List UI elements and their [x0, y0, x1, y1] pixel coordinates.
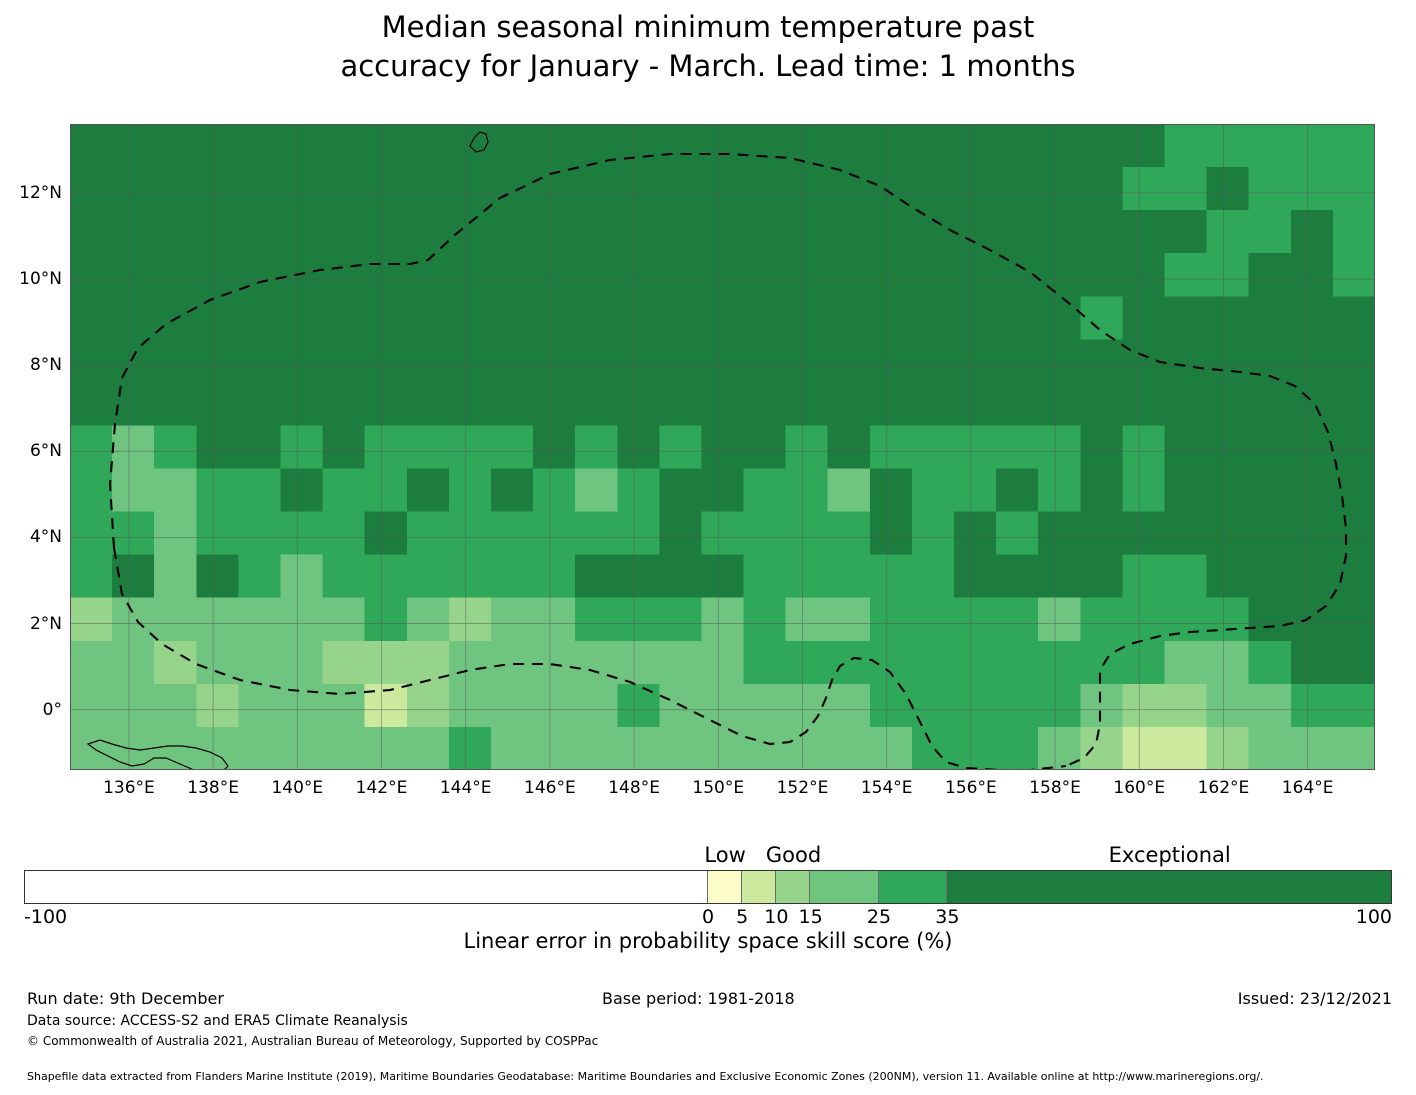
colorbar-segment	[25, 871, 708, 903]
x-axis-tick-label: 142°E	[356, 778, 408, 798]
colorbar-category-label: Good	[766, 843, 821, 867]
colorbar-tick-label: 35	[935, 906, 959, 928]
colorbar-segment	[776, 871, 810, 903]
colorbar-segment	[742, 871, 776, 903]
skill-score-heatmap	[70, 124, 1375, 770]
colorbar-tick-label: 5	[736, 906, 748, 928]
page-title: Median seasonal minimum temperature past…	[0, 8, 1416, 86]
y-axis-tick-label: 10°N	[19, 269, 62, 289]
map-plot-area	[70, 124, 1375, 770]
colorbar-segment	[708, 871, 742, 903]
colorbar	[24, 870, 1392, 904]
x-axis-tick-label: 152°E	[777, 778, 829, 798]
y-axis-tick-label: 8°N	[30, 355, 62, 375]
footer-data-source: Data source: ACCESS-S2 and ERA5 Climate …	[27, 1013, 408, 1029]
x-axis-tick-label: 154°E	[861, 778, 913, 798]
footer-issued-date: Issued: 23/12/2021	[1238, 989, 1392, 1008]
colorbar-tick-label: 25	[867, 906, 891, 928]
x-axis-tick-label: 164°E	[1282, 778, 1334, 798]
title-line-2: accuracy for January - March. Lead time:…	[0, 47, 1416, 86]
x-axis-tick-label: 156°E	[945, 778, 997, 798]
colorbar-tick-label: 100	[1356, 906, 1392, 928]
x-axis-tick-label: 144°E	[440, 778, 492, 798]
heatmap-canvas	[70, 124, 1375, 770]
colorbar-label: Linear error in probability space skill …	[0, 929, 1416, 953]
footer-copyright: © Commonwealth of Australia 2021, Austra…	[27, 1034, 598, 1048]
footer-shapefile-credit: Shapefile data extracted from Flanders M…	[27, 1070, 1264, 1083]
x-axis-tick-label: 146°E	[524, 778, 576, 798]
colorbar-segment	[947, 871, 1391, 903]
footer-base-period: Base period: 1981-2018	[602, 989, 795, 1008]
x-axis-tick-label: 160°E	[1113, 778, 1165, 798]
x-axis-tick-label: 158°E	[1029, 778, 1081, 798]
y-axis-tick-label: 2°N	[30, 614, 62, 634]
colorbar-tick-label: 0	[702, 906, 714, 928]
colorbar-category-label: Low	[704, 843, 745, 867]
footer-run-date: Run date: 9th December	[27, 989, 224, 1008]
colorbar-segment	[810, 871, 878, 903]
x-axis-tick-label: 136°E	[103, 778, 155, 798]
y-axis-tick-label: 6°N	[30, 441, 62, 461]
colorbar-tick-label: 15	[799, 906, 823, 928]
x-axis-tick-label: 150°E	[692, 778, 744, 798]
x-axis-tick-label: 138°E	[187, 778, 239, 798]
y-axis-tick-label: 0°	[43, 700, 62, 720]
colorbar-category-label: Exceptional	[1109, 843, 1231, 867]
colorbar-tick-label: 10	[764, 906, 788, 928]
colorbar-segment	[879, 871, 947, 903]
x-axis-tick-label: 162°E	[1198, 778, 1250, 798]
x-axis-tick-label: 140°E	[271, 778, 323, 798]
x-axis-tick-label: 148°E	[608, 778, 660, 798]
y-axis-tick-label: 12°N	[19, 183, 62, 203]
colorbar-tick-label: -100	[24, 906, 67, 928]
y-axis-tick-label: 4°N	[30, 527, 62, 547]
title-line-1: Median seasonal minimum temperature past	[0, 8, 1416, 47]
